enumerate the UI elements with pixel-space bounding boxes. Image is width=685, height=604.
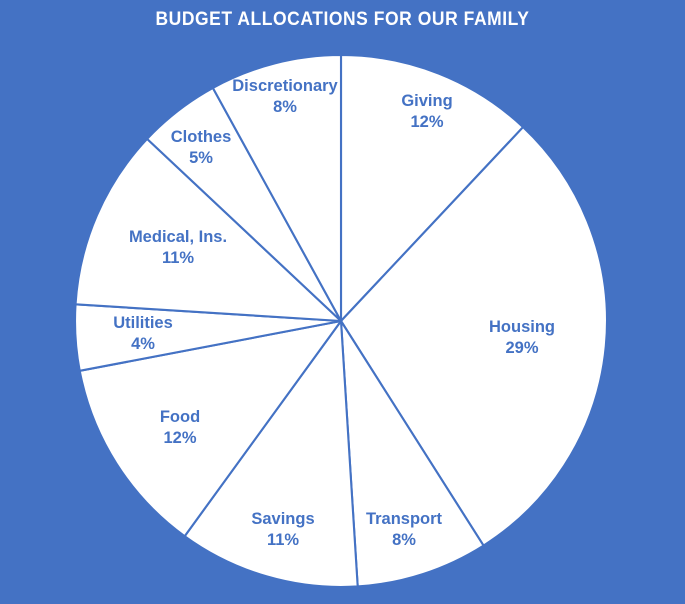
pie-chart-figure: BUDGET ALLOCATIONS FOR OUR FAMILY Giving… <box>0 0 685 604</box>
pie-chart-graphic <box>0 0 685 604</box>
pie-slices-group <box>75 55 607 587</box>
